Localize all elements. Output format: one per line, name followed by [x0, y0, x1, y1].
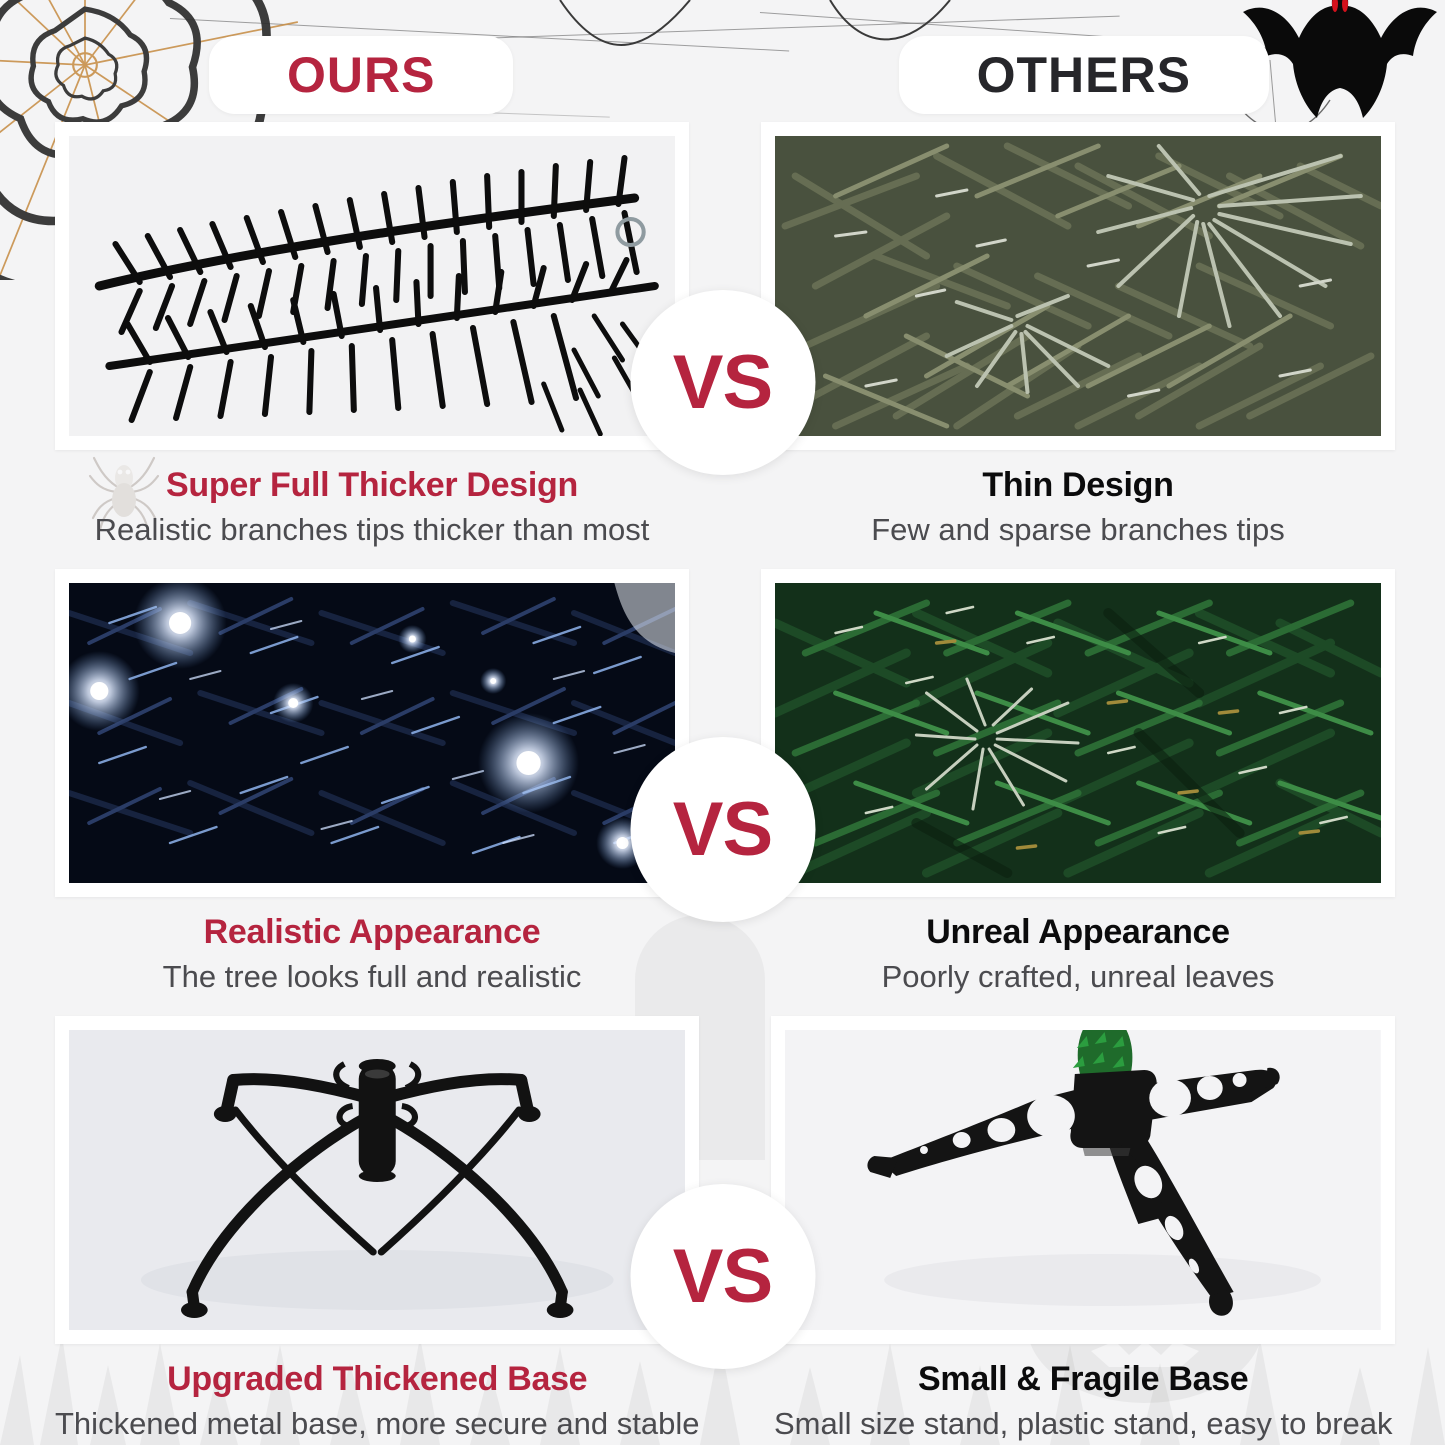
comparison-infographic: OURS OTHERS: [0, 0, 1445, 1445]
black-tree-with-lights-photo: [69, 583, 675, 883]
row-3-ours-cell: Upgraded Thickened Base Thickened metal …: [0, 1016, 746, 1445]
row-1-others-caption: Thin Design Few and sparse branches tips: [761, 466, 1395, 548]
comparison-row-2: Realistic Appearance The tree looks full…: [0, 569, 1445, 1016]
row-3-others-photo-frame: [771, 1016, 1395, 1344]
row-2-ours-subtitle: The tree looks full and realistic: [55, 958, 689, 995]
row-2-ours-caption: Realistic Appearance The tree looks full…: [55, 913, 689, 995]
black-pine-branch-photo: [69, 136, 675, 436]
row-3-others-subtitle: Small size stand, plastic stand, easy to…: [771, 1405, 1395, 1442]
row-2-others-caption: Unreal Appearance Poorly crafted, unreal…: [761, 913, 1395, 995]
row-1-ours-subtitle: Realistic branches tips thicker than mos…: [55, 511, 689, 548]
comparison-row-1: Super Full Thicker Design Realistic bran…: [0, 122, 1445, 569]
dark-green-needles-photo: [775, 583, 1381, 883]
row-3-others-title: Small & Fragile Base: [771, 1360, 1395, 1399]
row-1-others-subtitle: Few and sparse branches tips: [761, 511, 1395, 548]
row-3-others-caption: Small & Fragile Base Small size stand, p…: [771, 1360, 1395, 1442]
row-1-ours-cell: Super Full Thicker Design Realistic bran…: [0, 122, 736, 569]
row-1-ours-photo-frame: [55, 122, 689, 450]
row-2-ours-title: Realistic Appearance: [55, 913, 689, 952]
header-col-ours: OURS: [0, 30, 723, 120]
row-1-ours-title: Super Full Thicker Design: [55, 466, 689, 505]
plastic-tripod-stand-photo: [785, 1030, 1381, 1330]
row-3-ours-caption: Upgraded Thickened Base Thickened metal …: [55, 1360, 699, 1442]
row-2-ours-cell: Realistic Appearance The tree looks full…: [0, 569, 736, 1016]
row-1-others-title: Thin Design: [761, 466, 1395, 505]
row-1-ours-caption: Super Full Thicker Design Realistic bran…: [55, 466, 689, 548]
row-1-others-photo-frame: [761, 122, 1395, 450]
header-pill-ours: OURS: [209, 36, 513, 114]
row-2-others-cell: Unreal Appearance Poorly crafted, unreal…: [736, 569, 1445, 1016]
row-3-others-cell: Small & Fragile Base Small size stand, p…: [746, 1016, 1445, 1445]
metal-tree-stand-photo: [69, 1030, 685, 1330]
comparison-rows: Super Full Thicker Design Realistic bran…: [0, 122, 1445, 1445]
header-row: OURS OTHERS: [0, 30, 1445, 120]
sparse-olive-needles-photo: [775, 136, 1381, 436]
row-3-ours-subtitle: Thickened metal base, more secure and st…: [55, 1405, 699, 1442]
row-3-ours-photo-frame: [55, 1016, 699, 1344]
row-2-others-title: Unreal Appearance: [761, 913, 1395, 952]
row-3-ours-title: Upgraded Thickened Base: [55, 1360, 699, 1399]
header-pill-others: OTHERS: [899, 36, 1269, 114]
vs-badge-1: VS: [630, 290, 815, 475]
vs-badge-3: VS: [630, 1184, 815, 1369]
row-2-others-photo-frame: [761, 569, 1395, 897]
row-2-ours-photo-frame: [55, 569, 689, 897]
row-1-others-cell: Thin Design Few and sparse branches tips: [736, 122, 1445, 569]
comparison-row-3: Upgraded Thickened Base Thickened metal …: [0, 1016, 1445, 1445]
header-col-others: OTHERS: [723, 30, 1445, 120]
row-2-others-subtitle: Poorly crafted, unreal leaves: [761, 958, 1395, 995]
vs-badge-2: VS: [630, 737, 815, 922]
